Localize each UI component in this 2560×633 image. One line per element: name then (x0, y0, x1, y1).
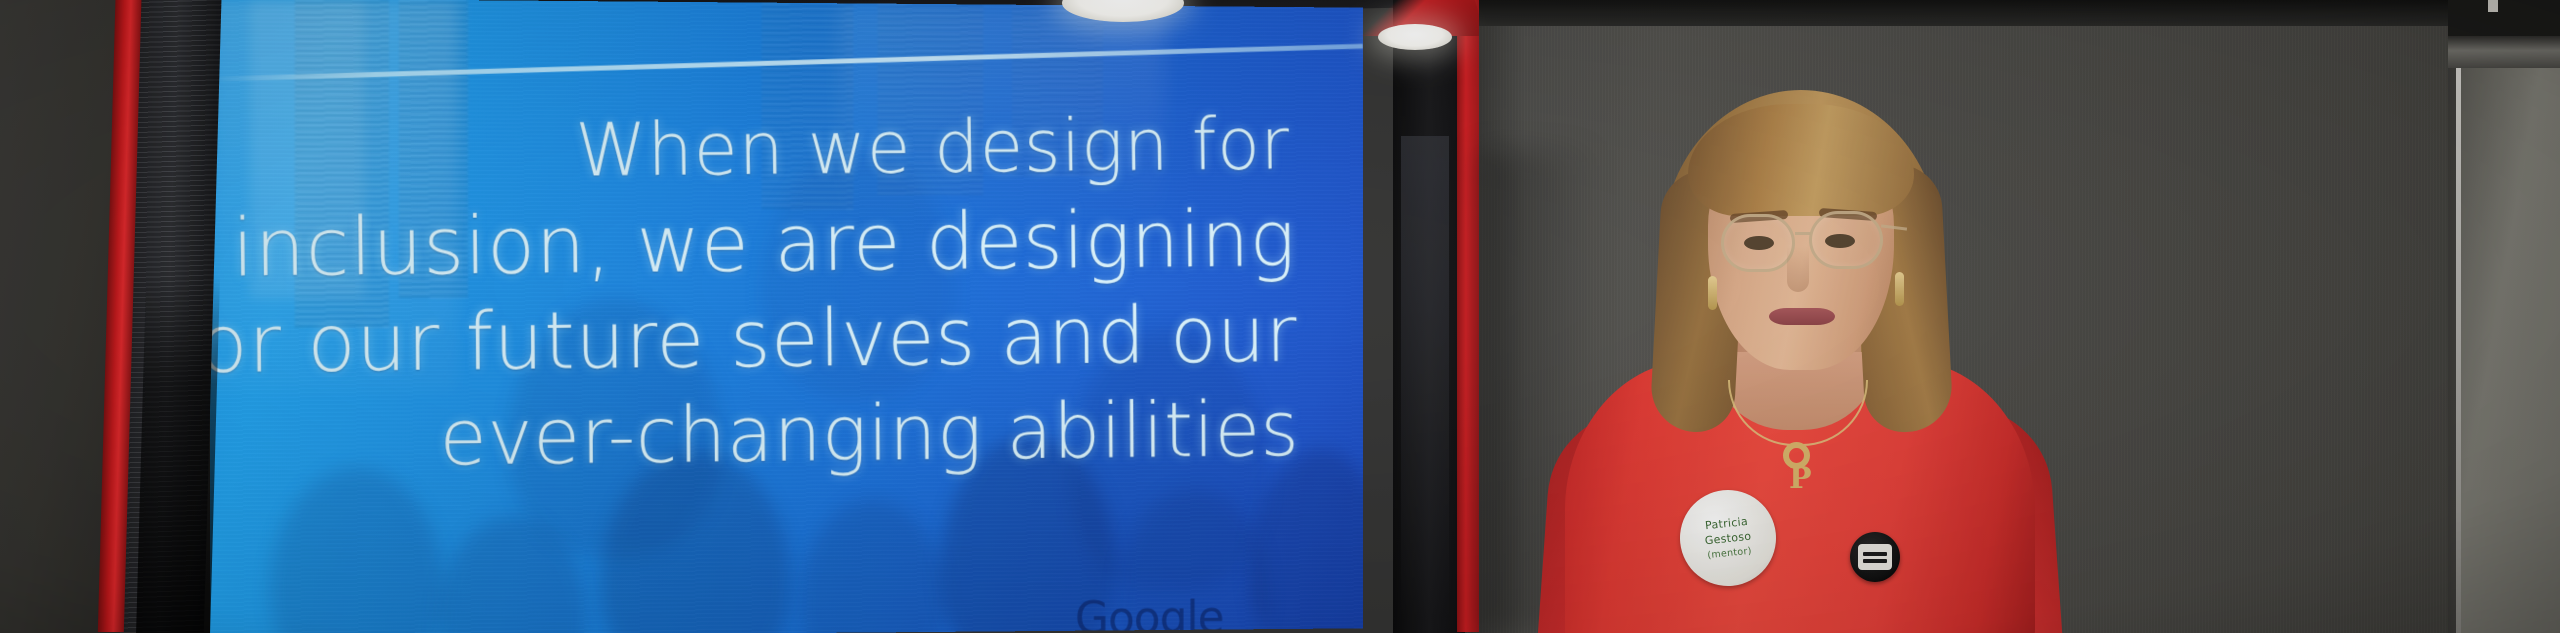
display-red-edge-right (1457, 0, 1479, 632)
glasses-bridge (1795, 232, 1811, 235)
ceiling (1455, 0, 2560, 26)
nose (1787, 246, 1809, 292)
display-bezel-right-glow (1401, 136, 1449, 616)
earring-right (1895, 272, 1904, 306)
presentation-display: When we design for inclusion, we are des… (55, 0, 1475, 633)
ceiling-light-strip (2488, 0, 2498, 12)
pin-bar-bottom (1863, 559, 1887, 563)
equality-pin-button (1850, 532, 1900, 582)
presenter-figure: P Patricia Gestoso (mentor) (1525, 60, 2085, 633)
mouth (1769, 308, 1835, 325)
quote-line-2: inclusion, we are designing (231, 194, 1295, 295)
door-reveal-highlight (2456, 68, 2461, 633)
display-bezel-left-shadow (136, 276, 220, 633)
door-header-trim (2448, 36, 2560, 68)
google-logo: Google (1075, 591, 1223, 633)
glasses-lens-right (1809, 211, 1883, 269)
ceiling-light-right-icon (1378, 24, 1452, 50)
pin-bar-top (1863, 552, 1887, 556)
photo-scene: When we design for inclusion, we are des… (0, 0, 2560, 633)
display-screen: When we design for inclusion, we are des… (210, 0, 1363, 633)
pin-face (1858, 544, 1892, 570)
glasses-lens-left (1721, 214, 1795, 272)
quote-line-1: When we design for (575, 102, 1290, 193)
slide-quote-text: When we design for inclusion, we are des… (210, 0, 1363, 633)
earring-left (1708, 276, 1717, 310)
door-frame-top-shadow (2448, 0, 2560, 38)
door-panel (2461, 68, 2560, 633)
quote-line-4: ever-changing abilities (439, 386, 1299, 483)
quote-line-3: for our future selves and our (210, 289, 1298, 391)
name-badge-line-3: (mentor) (1707, 543, 1753, 563)
necklace-letter-pendant: P (1789, 464, 1811, 498)
